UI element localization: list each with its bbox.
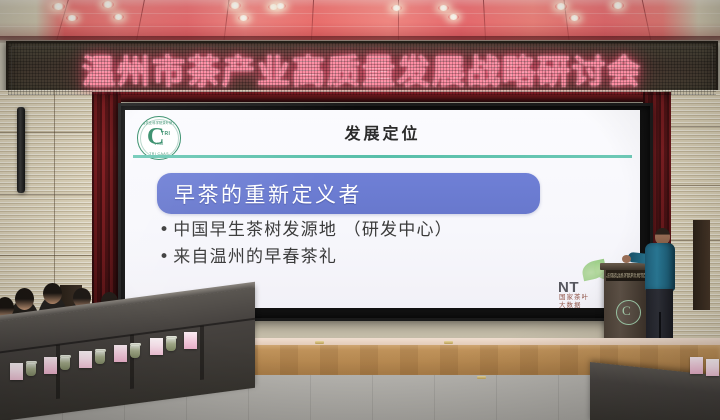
ceiling-spotlight — [448, 14, 459, 20]
ceiling-spotlight — [612, 2, 624, 9]
bullet-text: 来自温州的早春茶礼 — [173, 245, 337, 270]
podium-sign-line-2: TEA RESEARCH INSTITUTE CAAS — [606, 277, 648, 279]
podium-emblem-letter: C — [622, 304, 631, 317]
ceiling-spotlight — [102, 1, 114, 8]
watermark-subtitle: 国家茶叶 大数据 — [559, 294, 589, 308]
ceiling-spotlight — [438, 5, 449, 11]
ceiling-spotlight — [238, 15, 249, 21]
slide-title: 发展定位 — [125, 120, 640, 144]
ceiling-spotlight — [275, 3, 286, 9]
name-card — [79, 351, 92, 368]
podium-sign: 中国农业科学院茶叶研究所 TEA RESEARCH INSTITUTE CAAS — [606, 270, 648, 281]
tea-cup — [60, 357, 70, 370]
ceiling-spotlight — [113, 14, 124, 20]
name-card — [114, 345, 127, 362]
slide-highlight-box: 早茶的重新定义者 — [157, 173, 540, 214]
name-card — [44, 357, 57, 374]
ceiling-spotlight — [555, 3, 567, 10]
floor-fixture — [444, 341, 453, 344]
floor-fixture — [315, 341, 324, 344]
conference-hall-photo: 温州市茶产业高质量发展战略研讨会 中国农业科学院茶叶研究所 — [0, 0, 720, 420]
tea-cup — [26, 363, 36, 376]
tea-cup — [95, 351, 105, 364]
ceiling-spotlight — [391, 5, 402, 11]
name-card — [10, 363, 23, 380]
slide-divider-rule — [133, 155, 632, 158]
ceiling-spotlight — [569, 15, 580, 21]
name-card — [150, 338, 163, 355]
ceiling-spotlight — [52, 3, 65, 10]
presentation-slide: 中国农业科学院茶叶研究所 C TRI 1958 TRI CAAS 发展定位 早茶… — [125, 110, 640, 308]
speaker-torso — [645, 243, 675, 291]
bullet-text: 中国早生茶树发源地 （研发中心） — [173, 218, 453, 243]
bullet-marker: • — [159, 218, 170, 243]
ceiling-spotlight — [66, 15, 78, 21]
floor-fixture — [477, 376, 486, 379]
tea-cup — [166, 338, 176, 351]
bullet-marker: • — [159, 245, 170, 270]
table-leg — [200, 325, 204, 380]
attendee-head — [15, 288, 34, 310]
ceiling-spotlight — [229, 2, 241, 9]
name-card — [690, 357, 703, 374]
wall-vent-right — [693, 220, 710, 310]
attendee-head — [43, 283, 62, 304]
speaker-hand — [622, 255, 631, 263]
tea-cup — [130, 345, 140, 358]
ceiling-panels — [0, 0, 720, 40]
list-item: • 中国早生茶树发源地 （研发中心） — [159, 218, 630, 243]
name-card — [184, 332, 197, 349]
name-card — [706, 359, 719, 376]
wall-mounted-speaker-icon — [17, 107, 25, 193]
slide-highlight-text: 早茶的重新定义者 — [157, 179, 362, 209]
led-banner: 温州市茶产业高质量发展战略研讨会 — [6, 41, 718, 97]
podium-emblem-icon: C — [616, 300, 641, 325]
